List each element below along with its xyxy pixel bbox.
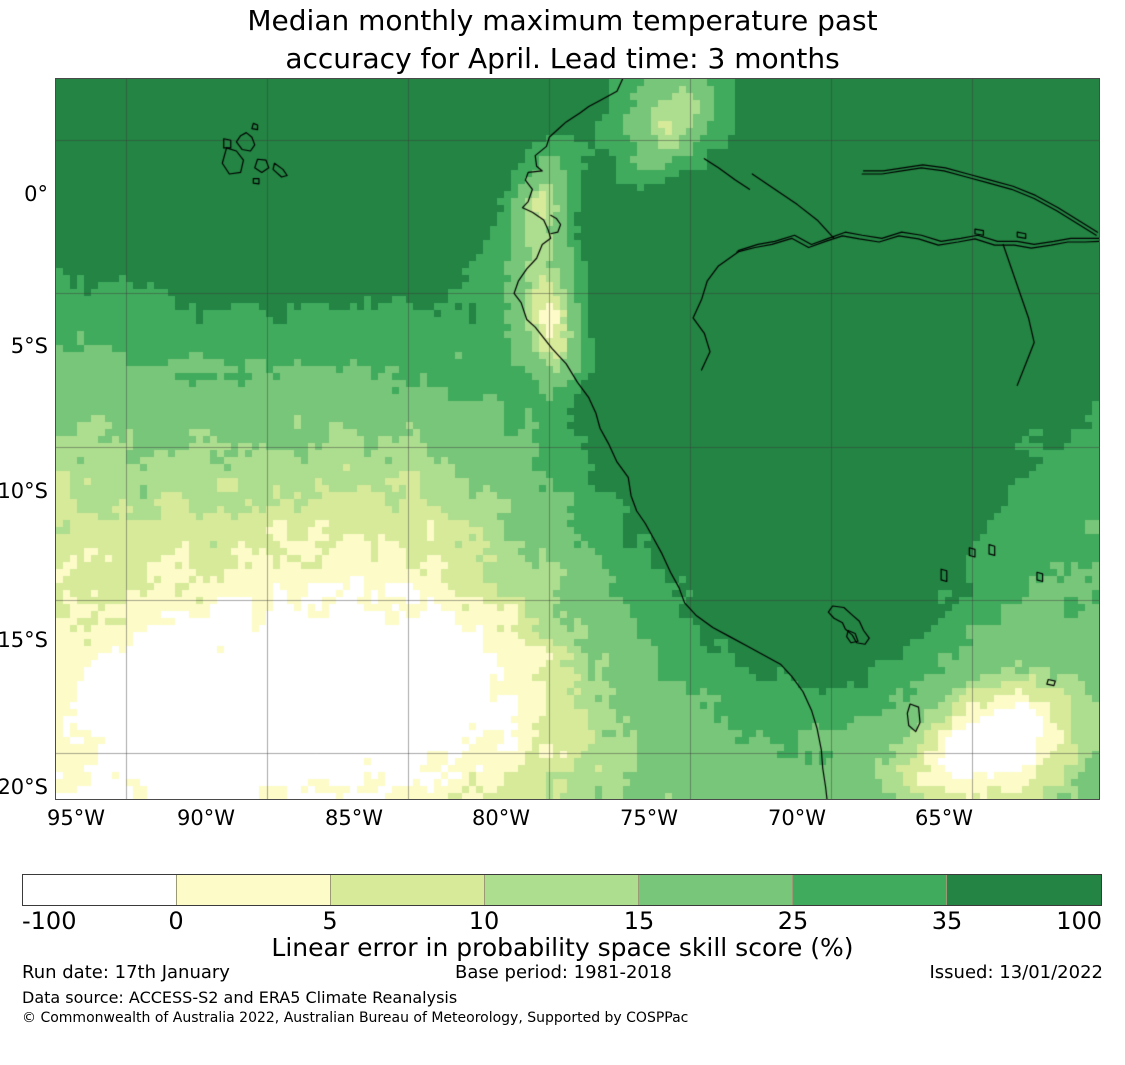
colorbar-segment: [793, 875, 947, 905]
copyright-text: © Commonwealth of Australia 2022, Austra…: [22, 1009, 688, 1027]
colorbar-tick-label: 10: [469, 908, 500, 934]
colorbar-tick-label: 35: [932, 908, 963, 934]
colorbar: [22, 874, 1102, 906]
x-tick-label: 90°W: [177, 806, 235, 830]
y-tick-label: 20°S: [0, 777, 48, 798]
colorbar-segment: [331, 875, 485, 905]
colorbar-axis-label: Linear error in probability space skill …: [0, 934, 1125, 962]
x-tick-label: 95°W: [47, 806, 105, 830]
x-tick-label: 85°W: [325, 806, 383, 830]
x-tick-label: 70°W: [768, 806, 826, 830]
title-line-1: Median monthly maximum temperature past: [0, 2, 1125, 40]
colorbar-segment: [485, 875, 639, 905]
colorbar-segment: [639, 875, 793, 905]
y-tick-label: 10°S: [0, 481, 48, 502]
y-tick-label: 5°S: [11, 336, 48, 357]
map-plot-area: [55, 78, 1100, 800]
y-tick-label: 0°: [24, 184, 48, 205]
page-title: Median monthly maximum temperature past …: [0, 0, 1125, 78]
title-line-2: accuracy for April. Lead time: 3 months: [0, 40, 1125, 78]
x-tick-label: 80°W: [472, 806, 530, 830]
colorbar-tick-label: 0: [168, 908, 183, 934]
y-tick-label: 15°S: [0, 630, 48, 651]
x-tick-label: 65°W: [915, 806, 973, 830]
issued-date-text: Issued: 13/01/2022: [929, 962, 1103, 984]
base-period-text: Base period: 1981-2018: [455, 962, 672, 984]
x-tick-label: 75°W: [620, 806, 678, 830]
colorbar-tick-label: 100: [1056, 908, 1102, 934]
colorbar-tick-label: 15: [624, 908, 655, 934]
footer-metadata-row: Run date: 17th January Base period: 1981…: [0, 962, 1125, 986]
skill-score-heatmap: [56, 79, 1099, 799]
colorbar-tick-label: 5: [322, 908, 337, 934]
colorbar-container: [22, 874, 1102, 906]
colorbar-segment: [23, 875, 177, 905]
colorbar-tick-label: 25: [778, 908, 809, 934]
run-date-text: Run date: 17th January: [22, 962, 230, 984]
footer: Run date: 17th January Base period: 1981…: [0, 962, 1125, 1062]
colorbar-segment: [947, 875, 1101, 905]
colorbar-tick-label: -100: [22, 908, 76, 934]
data-source-text: Data source: ACCESS-S2 and ERA5 Climate …: [22, 988, 457, 1008]
colorbar-segment: [177, 875, 331, 905]
